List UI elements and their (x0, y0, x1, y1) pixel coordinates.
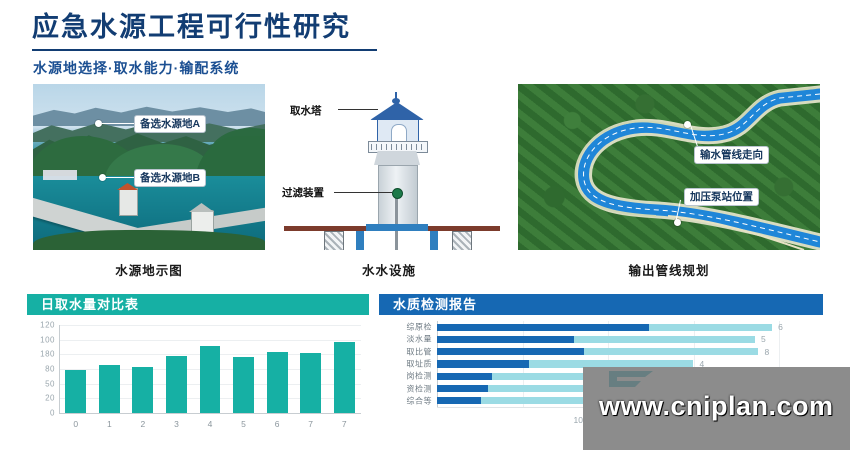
bar-chart-x-tick: 0 (73, 419, 78, 429)
panel-row: 备选水源地A 备选水源地B 水源地示图 (0, 84, 850, 280)
callout-label-filter: 过滤装置 (282, 185, 324, 200)
page-subtitle: 水源地选择·取水能力·输配系统 (33, 58, 820, 78)
chart-card-daily-intake: 日取水量对比表 1201001808050200012345677 (27, 294, 369, 442)
tower-lantern-room (377, 119, 419, 143)
bar-chart-y-tick: 120 (40, 321, 55, 330)
gate-tower-red-roof (119, 188, 138, 216)
callout-label-a: 备选水源地A (134, 115, 206, 133)
chart-title-water-quality: 水质检测报告 (379, 294, 823, 315)
stacked-chart-segment (437, 373, 492, 380)
callout-line-filter (334, 192, 392, 193)
tower-roof (370, 102, 424, 120)
bar-chart-y-tick: 80 (45, 365, 55, 374)
pit-wall-right (452, 231, 472, 250)
bar-chart-x-tick: 5 (241, 419, 246, 429)
bar-chart-y-tick: 50 (45, 379, 55, 388)
stacked-chart-segment (437, 324, 649, 331)
pit-wall-left (324, 231, 344, 250)
stacked-chart-category-label: 综原检 (407, 322, 433, 333)
bar-chart-bar (132, 367, 153, 413)
panel-caption-facility: 水水设施 (278, 260, 500, 279)
stacked-chart-segment (584, 348, 758, 355)
callout-dot-a (95, 120, 102, 127)
bar-chart-gridline (59, 325, 361, 326)
panel-caption-reservoir: 水源地示图 (33, 260, 265, 279)
tower-base-slab (366, 224, 428, 231)
watermark-url: www.cniplan.com (599, 391, 834, 422)
bar-chart-x-tick: 7 (342, 419, 347, 429)
watermark-logo-icon (607, 369, 659, 391)
bar-chart-bar (200, 346, 221, 413)
center-intake-rod (395, 192, 398, 250)
stacked-chart-segment (574, 336, 755, 343)
bar-chart-x-tick: 4 (208, 419, 213, 429)
intake-pipe-right (430, 231, 438, 250)
title-underline (32, 49, 377, 51)
panel-reservoir: 备选水源地A 备选水源地B 水源地示图 (33, 84, 265, 250)
bar-chart-gridline (59, 340, 361, 341)
bar-chart-plot: 1201001808050200012345677 (27, 315, 369, 435)
pipeline-aerial-photo: 输水管线走向 加压泵站位置 (518, 84, 820, 250)
bar-chart-x-tick: 2 (141, 419, 146, 429)
callout-line-b (106, 177, 134, 178)
bar-chart-y-tick: 0 (50, 409, 55, 418)
watermark-overlay: www.cniplan.com (583, 367, 850, 450)
stacked-chart-category-label: 取比管 (407, 346, 433, 357)
bar-chart-y-tick: 20 (45, 394, 55, 403)
bar-chart-x-tick: 3 (174, 419, 179, 429)
stacked-chart-segment (437, 385, 488, 392)
bar-chart-bar (65, 370, 86, 413)
callout-dot-b (99, 174, 106, 181)
intake-pipe-left (356, 231, 364, 250)
bar-chart-x-tick: 1 (107, 419, 112, 429)
bar-chart-bar (99, 365, 120, 413)
stacked-chart-segment (437, 397, 481, 404)
bar-chart-bar (300, 353, 321, 413)
panel-intake-facility: 取水塔 过滤装置 水水设施 (278, 84, 500, 250)
chart-title-daily-intake: 日取水量对比表 (27, 294, 369, 315)
stacked-chart-segment (437, 360, 529, 367)
bar-chart-x-tick: 6 (275, 419, 280, 429)
stacked-chart-segment (437, 336, 574, 343)
stacked-chart-category-label: 资检测 (407, 383, 433, 394)
bar-chart-y-axis (59, 325, 60, 413)
stacked-chart-category-label: 淡水量 (407, 334, 433, 345)
bar-chart-bar (334, 342, 355, 413)
callout-line-a (102, 123, 134, 124)
panel-pipeline: 输水管线走向 加压泵站位置 输出管线规划 (518, 84, 820, 250)
stacked-chart-segment (437, 348, 584, 355)
slide-header: 应急水源工程可行性研究 水源地选择·取水能力·输配系统 (30, 10, 820, 78)
callout-label-b: 备选水源地B (134, 169, 206, 187)
filter-device-marker (392, 188, 403, 199)
page-title: 应急水源工程可行性研究 (30, 10, 820, 47)
stacked-chart-value-label: 8 (764, 347, 769, 357)
stacked-chart-category-label: 综合等 (407, 395, 433, 406)
canal-path-graphic (518, 84, 820, 250)
village-buildings (43, 170, 77, 180)
bar-chart-x-tick: 7 (308, 419, 313, 429)
panel-caption-pipeline: 输出管线规划 (518, 260, 820, 279)
intake-tower-diagram: 取水塔 过滤装置 (278, 84, 500, 250)
bar-chart-y-tick: 180 (40, 350, 55, 359)
callout-label-intake-tower: 取水塔 (290, 103, 322, 118)
callout-line-intake-tower (338, 109, 378, 110)
stacked-chart-segment (649, 324, 772, 331)
tower-cornice (374, 151, 420, 165)
callout-label-pipeline-route: 输水管线走向 (694, 146, 769, 164)
bar-chart-bar (267, 352, 288, 413)
bar-chart-bar (166, 356, 187, 413)
stacked-chart-category-label: 岗检测 (407, 371, 433, 382)
stacked-chart-value-label: 5 (761, 334, 766, 344)
reservoir-photo: 备选水源地A 备选水源地B (33, 84, 265, 250)
bar-chart-bar (233, 357, 254, 413)
bar-chart-y-tick: 100 (40, 335, 55, 344)
bar-chart-x-axis (59, 413, 361, 414)
stacked-chart-value-label: 6 (778, 322, 783, 332)
stacked-chart-category-label: 取址质 (407, 359, 433, 370)
foreground-vegetation (33, 230, 265, 250)
slide-root: 应急水源工程可行性研究 水源地选择·取水能力·输配系统 (0, 0, 850, 450)
callout-label-pump-station: 加压泵站位置 (684, 188, 759, 206)
